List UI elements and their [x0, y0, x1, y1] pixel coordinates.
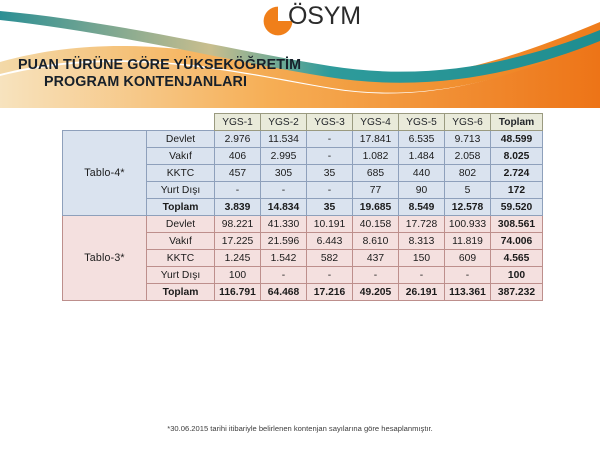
- cell-value: 437: [353, 250, 399, 267]
- row-label: Devlet: [147, 216, 215, 233]
- cell-value: 305: [261, 165, 307, 182]
- cell-value: -: [445, 267, 491, 284]
- footnote: *30.06.2015 tarihi itibariyle belirlenen…: [0, 424, 600, 433]
- column-header-ygs6: YGS-6: [445, 114, 491, 131]
- cell-value: 1.542: [261, 250, 307, 267]
- page-title-line1: PUAN TÜRÜNE GÖRE YÜKSEKÖĞRETİM: [18, 57, 301, 74]
- cell-total: 74.006: [491, 233, 543, 250]
- column-header-toplam: Toplam: [491, 114, 543, 131]
- table-header: YGS-1 YGS-2 YGS-3 YGS-4 YGS-5 YGS-6 Topl…: [63, 114, 543, 131]
- cell-value: 1.484: [399, 148, 445, 165]
- osym-logo-text: ÖSYM: [288, 2, 361, 31]
- cell-value: 10.191: [307, 216, 353, 233]
- cell-value: 11.819: [445, 233, 491, 250]
- cell-value: 90: [399, 182, 445, 199]
- cell-value: 35: [307, 165, 353, 182]
- osym-logo: ÖSYM: [262, 1, 382, 43]
- cell-value: 77: [353, 182, 399, 199]
- cell-value: -: [215, 182, 261, 199]
- cell-value: 440: [399, 165, 445, 182]
- cell-value: 14.834: [261, 199, 307, 216]
- row-label: Vakıf: [147, 233, 215, 250]
- cell-value: 802: [445, 165, 491, 182]
- cell-total: 308.561: [491, 216, 543, 233]
- column-header-ygs3: YGS-3: [307, 114, 353, 131]
- cell-value: 406: [215, 148, 261, 165]
- cell-value: 150: [399, 250, 445, 267]
- cell-total: 4.565: [491, 250, 543, 267]
- cell-total: 48.599: [491, 131, 543, 148]
- page-title-line2: PROGRAM KONTENJANLARI: [18, 74, 301, 91]
- cell-value: 8.313: [399, 233, 445, 250]
- row-label: Toplam: [147, 199, 215, 216]
- cell-value: 98.221: [215, 216, 261, 233]
- cell-value: 8.549: [399, 199, 445, 216]
- table-row: Tablo-4* Devlet 2.976 11.534 - 17.841 6.…: [63, 131, 543, 148]
- cell-value: 21.596: [261, 233, 307, 250]
- cell-value: 2.976: [215, 131, 261, 148]
- cell-value: 64.468: [261, 284, 307, 301]
- cell-value: 457: [215, 165, 261, 182]
- cell-total: 387.232: [491, 284, 543, 301]
- cell-value: 1.082: [353, 148, 399, 165]
- cell-value: 17.841: [353, 131, 399, 148]
- row-label: KKTC: [147, 250, 215, 267]
- table-header-row: YGS-1 YGS-2 YGS-3 YGS-4 YGS-5 YGS-6 Topl…: [63, 114, 543, 131]
- cell-value: 12.578: [445, 199, 491, 216]
- row-label: Toplam: [147, 284, 215, 301]
- cell-value: 685: [353, 165, 399, 182]
- cell-value: 5: [445, 182, 491, 199]
- cell-value: 113.361: [445, 284, 491, 301]
- cell-value: 3.839: [215, 199, 261, 216]
- cell-value: 100.933: [445, 216, 491, 233]
- cell-value: -: [399, 267, 445, 284]
- group-label-tablo3: Tablo-3*: [63, 216, 147, 301]
- cell-value: -: [307, 148, 353, 165]
- cell-total: 172: [491, 182, 543, 199]
- cell-value: 2.995: [261, 148, 307, 165]
- column-header-ygs1: YGS-1: [215, 114, 261, 131]
- row-label: Yurt Dışı: [147, 267, 215, 284]
- column-header-ygs2: YGS-2: [261, 114, 307, 131]
- cell-value: 6.443: [307, 233, 353, 250]
- header-corner-type: [147, 114, 215, 131]
- cell-value: 11.534: [261, 131, 307, 148]
- cell-total: 59.520: [491, 199, 543, 216]
- cell-total: 8.025: [491, 148, 543, 165]
- table-row: Tablo-3* Devlet 98.221 41.330 10.191 40.…: [63, 216, 543, 233]
- cell-value: 40.158: [353, 216, 399, 233]
- row-label: KKTC: [147, 165, 215, 182]
- row-label: Devlet: [147, 131, 215, 148]
- cell-total: 2.724: [491, 165, 543, 182]
- cell-value: 41.330: [261, 216, 307, 233]
- cell-value: -: [307, 131, 353, 148]
- cell-value: 2.058: [445, 148, 491, 165]
- cell-value: -: [261, 182, 307, 199]
- row-label: Yurt Dışı: [147, 182, 215, 199]
- kontenjan-table-wrap: YGS-1 YGS-2 YGS-3 YGS-4 YGS-5 YGS-6 Topl…: [62, 113, 542, 301]
- cell-value: 17.225: [215, 233, 261, 250]
- cell-value: 582: [307, 250, 353, 267]
- cell-value: -: [353, 267, 399, 284]
- cell-value: 609: [445, 250, 491, 267]
- cell-value: 100: [215, 267, 261, 284]
- table-group-tablo4: Tablo-4* Devlet 2.976 11.534 - 17.841 6.…: [63, 131, 543, 216]
- column-header-ygs5: YGS-5: [399, 114, 445, 131]
- cell-value: 17.728: [399, 216, 445, 233]
- cell-value: 19.685: [353, 199, 399, 216]
- page-title: PUAN TÜRÜNE GÖRE YÜKSEKÖĞRETİM PROGRAM K…: [18, 57, 301, 92]
- cell-value: 1.245: [215, 250, 261, 267]
- cell-value: 49.205: [353, 284, 399, 301]
- kontenjan-table: YGS-1 YGS-2 YGS-3 YGS-4 YGS-5 YGS-6 Topl…: [62, 113, 543, 301]
- cell-value: -: [307, 267, 353, 284]
- cell-value: 8.610: [353, 233, 399, 250]
- cell-value: 116.791: [215, 284, 261, 301]
- cell-value: 17.216: [307, 284, 353, 301]
- cell-value: 35: [307, 199, 353, 216]
- cell-value: -: [307, 182, 353, 199]
- header-corner-group: [63, 114, 147, 131]
- cell-value: 26.191: [399, 284, 445, 301]
- row-label: Vakıf: [147, 148, 215, 165]
- table-group-tablo3: Tablo-3* Devlet 98.221 41.330 10.191 40.…: [63, 216, 543, 301]
- cell-total: 100: [491, 267, 543, 284]
- column-header-ygs4: YGS-4: [353, 114, 399, 131]
- cell-value: 9.713: [445, 131, 491, 148]
- cell-value: 6.535: [399, 131, 445, 148]
- cell-value: -: [261, 267, 307, 284]
- group-label-tablo4: Tablo-4*: [63, 131, 147, 216]
